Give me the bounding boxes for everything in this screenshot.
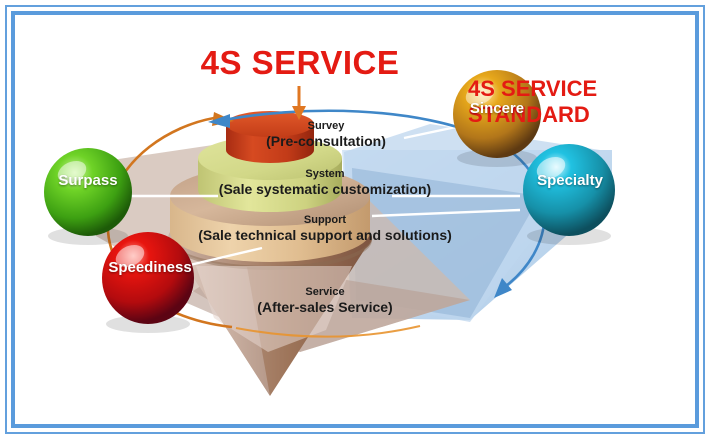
cone-label-service-title: Service: [150, 286, 500, 299]
cone-label-support-subtitle: (Sale technical support and solutions): [130, 227, 520, 244]
cone-label-service: Service (After-sales Service): [150, 286, 500, 315]
cone-label-system-title: System: [140, 168, 510, 181]
cone-label-support-title: Support: [130, 214, 520, 227]
sphere-speediness[interactable]: [102, 232, 194, 333]
page-title: 4S SERVICE: [150, 44, 450, 82]
sphere-surpass[interactable]: [44, 148, 132, 245]
cone-label-service-subtitle: (After-sales Service): [150, 299, 500, 316]
cone-label-system-subtitle: (Sale systematic customization): [140, 181, 510, 198]
cone-label-support: Support (Sale technical support and solu…: [130, 214, 520, 243]
cone-label-survey-subtitle: (Pre-consultation): [176, 133, 476, 150]
sphere-label-sincere: Sincere: [437, 100, 557, 117]
sphere-label-surpass: Surpass: [18, 172, 158, 189]
cone-label-system: System (Sale systematic customization): [140, 168, 510, 197]
cone-label-survey-title: Survey: [176, 120, 476, 133]
sphere-label-specialty: Specialty: [505, 172, 635, 189]
sphere-label-speediness: Speediness: [70, 259, 230, 276]
diagram-canvas: 4S SERVICE 4S SERVICE STANDARD Survey (P…: [0, 0, 712, 441]
cone-label-survey: Survey (Pre-consultation): [176, 120, 476, 149]
standard-title-line1: 4S SERVICE: [468, 76, 706, 102]
